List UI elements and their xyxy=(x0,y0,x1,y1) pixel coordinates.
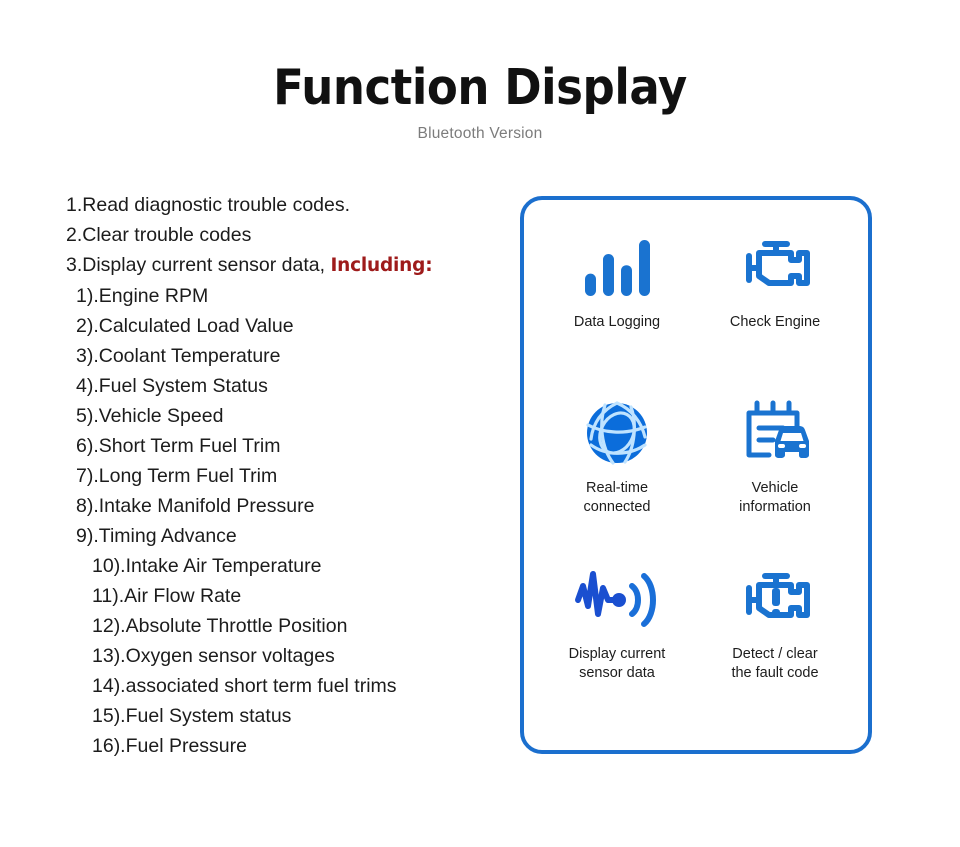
icon-label: Real-timeconnected xyxy=(584,479,651,517)
feature-item-label: 8).Intake Manifold Pressure xyxy=(76,495,314,517)
feature-item: 14).associated short term fuel trims xyxy=(66,671,496,701)
function-icon-panel: Data Logging Check Engine Real-timeconne… xyxy=(520,196,872,754)
header: Function Display Bluetooth Version xyxy=(0,62,960,143)
feature-item: 4).Fuel System Status xyxy=(66,371,496,401)
feature-item-label: 5).Vehicle Speed xyxy=(76,405,223,427)
feature-item-label: 15).Fuel System status xyxy=(92,705,291,727)
icon-label: Detect / clearthe fault code xyxy=(731,645,818,683)
feature-item-label: 10).Intake Air Temperature xyxy=(92,555,321,577)
feature-item: 3.Display current sensor data, Including… xyxy=(66,250,496,281)
feature-item: 7).Long Term Fuel Trim xyxy=(66,461,496,491)
feature-item: 15).Fuel System status xyxy=(66,701,496,731)
feature-item: 1.Read diagnostic trouble codes. xyxy=(66,190,496,220)
feature-item: 5).Vehicle Speed xyxy=(66,401,496,431)
icon-label-line2: the fault code xyxy=(731,664,818,683)
feature-item-label: 1.Read diagnostic trouble codes. xyxy=(66,194,350,216)
icon-label: Display currentsensor data xyxy=(569,645,666,683)
page-title: Function Display xyxy=(38,62,921,113)
page-subtitle: Bluetooth Version xyxy=(0,125,960,143)
feature-item-label: 13).Oxygen sensor voltages xyxy=(92,645,335,667)
icon-cell-clipboard-car: Vehicleinformation xyxy=(696,396,854,562)
icon-cell-globe-network: Real-timeconnected xyxy=(538,396,696,562)
feature-item: 1).Engine RPM xyxy=(66,281,496,311)
feature-item: 2).Calculated Load Value xyxy=(66,311,496,341)
icon-cell-waveform-signal: Display currentsensor data xyxy=(538,562,696,728)
feature-item: 12).Absolute Throttle Position xyxy=(66,611,496,641)
feature-item: 6).Short Term Fuel Trim xyxy=(66,431,496,461)
feature-item-label: 3.Display current sensor data, xyxy=(66,254,330,276)
feature-item-label: 2).Calculated Load Value xyxy=(76,315,294,337)
feature-item: 3).Coolant Temperature xyxy=(66,341,496,371)
icon-label-line2: sensor data xyxy=(569,664,666,683)
icon-label: Check Engine xyxy=(730,313,820,332)
feature-item: 2.Clear trouble codes xyxy=(66,220,496,250)
icon-label-line2: information xyxy=(739,498,811,517)
icon-label-line1: Real-time xyxy=(586,480,648,496)
feature-item: 16).Fuel Pressure xyxy=(66,731,496,761)
feature-item-label: 9).Timing Advance xyxy=(76,525,237,547)
feature-item-label: 3).Coolant Temperature xyxy=(76,345,281,367)
feature-item-label: 4).Fuel System Status xyxy=(76,375,268,397)
icon-cell-engine-warning: Detect / clearthe fault code xyxy=(696,562,854,728)
icon-label-line1: Detect / clear xyxy=(732,646,817,662)
feature-item-label: 7).Long Term Fuel Trim xyxy=(76,465,277,487)
feature-item-label: 1).Engine RPM xyxy=(76,285,208,307)
feature-item: 13).Oxygen sensor voltages xyxy=(66,641,496,671)
globe-network-icon xyxy=(581,396,653,470)
icon-grid: Data Logging Check Engine Real-timeconne… xyxy=(524,200,868,750)
icon-label-line1: Vehicle xyxy=(752,480,799,496)
data-logging-icon xyxy=(579,230,655,304)
icon-label-line1: Check Engine xyxy=(730,314,820,330)
icon-label-line1: Data Logging xyxy=(574,314,660,330)
feature-item: 10).Intake Air Temperature xyxy=(66,551,496,581)
check-engine-icon xyxy=(735,230,815,304)
icon-cell-check-engine: Check Engine xyxy=(696,230,854,396)
icon-label-line1: Display current xyxy=(569,646,666,662)
waveform-signal-icon xyxy=(574,562,660,636)
feature-item: 11).Air Flow Rate xyxy=(66,581,496,611)
icon-cell-data-logging: Data Logging xyxy=(538,230,696,396)
icon-label: Data Logging xyxy=(574,313,660,332)
feature-item-label: 16).Fuel Pressure xyxy=(92,735,247,757)
icon-label: Vehicleinformation xyxy=(739,479,811,517)
feature-item-emphasis: Including: xyxy=(330,255,432,276)
feature-list: 1.Read diagnostic trouble codes.2.Clear … xyxy=(66,190,496,761)
feature-item-label: 12).Absolute Throttle Position xyxy=(92,615,347,637)
icon-label-line2: connected xyxy=(584,498,651,517)
feature-item-label: 11).Air Flow Rate xyxy=(92,585,241,607)
feature-item-label: 6).Short Term Fuel Trim xyxy=(76,435,280,457)
engine-warning-icon xyxy=(735,562,815,636)
feature-item-label: 2.Clear trouble codes xyxy=(66,224,251,246)
feature-item: 9).Timing Advance xyxy=(66,521,496,551)
feature-item: 8).Intake Manifold Pressure xyxy=(66,491,496,521)
feature-item-label: 14).associated short term fuel trims xyxy=(92,675,397,697)
clipboard-car-icon xyxy=(735,396,815,470)
